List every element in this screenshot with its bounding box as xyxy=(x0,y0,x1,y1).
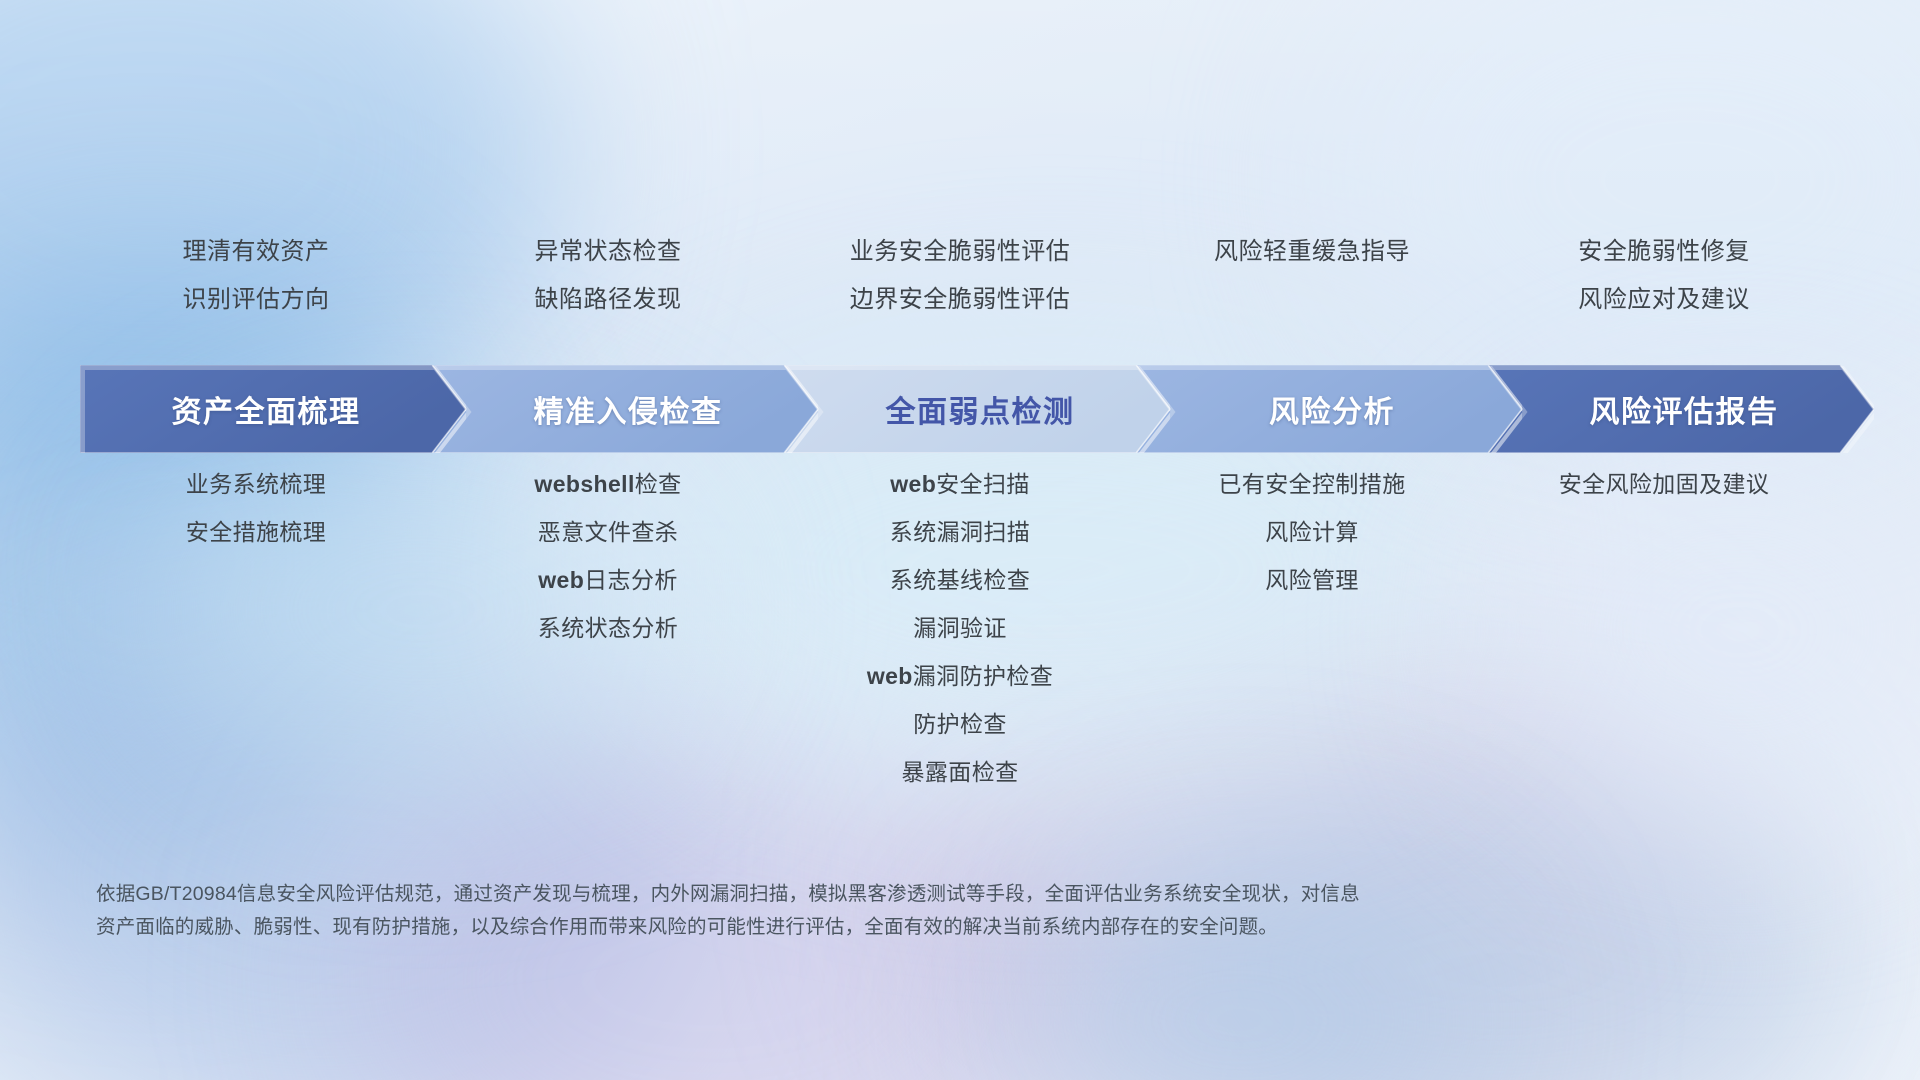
bottom-caption: webshell检查 xyxy=(534,460,681,508)
bottom-caption: 暴露面检查 xyxy=(902,748,1019,796)
process-arrow-band: 资产全面梳理精准入侵检查全面弱点检测风险分析风险评估报告 xyxy=(80,365,1840,453)
top-caption-group-intrusion-check: 异常状态检查缺陷路径发现 xyxy=(432,228,784,338)
bottom-caption: 风险计算 xyxy=(1265,508,1359,556)
top-caption: 理清有效资产 xyxy=(183,228,330,276)
stage-label-risk-report: 风险评估报告 xyxy=(1590,387,1779,431)
top-caption: 识别评估方向 xyxy=(183,276,330,324)
top-caption: 业务安全脆弱性评估 xyxy=(850,228,1071,276)
footer-line-2: 资产面临的威胁、脆弱性、现有防护措施，以及综合作用而带来风险的可能性进行评估，全… xyxy=(96,911,1706,944)
top-caption: 安全脆弱性修复 xyxy=(1578,228,1750,276)
process-stage-risk-report[interactable]: 风险评估报告 xyxy=(1488,365,1874,453)
top-caption-group-risk-report: 安全脆弱性修复风险应对及建议 xyxy=(1488,228,1840,338)
bottom-caption-group-intrusion-check: webshell检查恶意文件查杀web日志分析系统状态分析 xyxy=(432,460,784,652)
process-stage-asset-inventory[interactable]: 资产全面梳理 xyxy=(80,365,466,453)
bottom-caption-group-weakness-detection: web安全扫描系统漏洞扫描系统基线检查漏洞验证web漏洞防护检查防护检查暴露面检… xyxy=(784,460,1136,796)
stage-label-asset-inventory: 资产全面梳理 xyxy=(172,387,361,431)
bottom-caption: 风险管理 xyxy=(1265,556,1359,604)
bottom-caption: 业务系统梳理 xyxy=(186,460,326,508)
slide-canvas: 理清有效资产识别评估方向异常状态检查缺陷路径发现业务安全脆弱性评估边界安全脆弱性… xyxy=(0,0,1920,1080)
bottom-caption-group-asset-inventory: 业务系统梳理安全措施梳理 xyxy=(80,460,432,556)
bottom-caption: web漏洞防护检查 xyxy=(867,652,1053,700)
process-stage-intrusion-check[interactable]: 精准入侵检查 xyxy=(432,365,818,453)
bottom-caption: 防护检查 xyxy=(913,700,1007,748)
bottom-caption: 安全措施梳理 xyxy=(186,508,326,556)
bottom-caption: web日志分析 xyxy=(538,556,678,604)
top-caption-group-weakness-detection: 业务安全脆弱性评估边界安全脆弱性评估 xyxy=(784,228,1136,338)
stage-label-weakness-detection: 全面弱点检测 xyxy=(886,387,1075,431)
process-stage-risk-analysis[interactable]: 风险分析 xyxy=(1136,365,1522,453)
bottom-caption-group-risk-report: 安全风险加固及建议 xyxy=(1488,460,1840,508)
stage-label-risk-analysis: 风险分析 xyxy=(1269,387,1395,431)
bottom-caption: 恶意文件查杀 xyxy=(538,508,678,556)
bottom-caption: 系统基线检查 xyxy=(890,556,1030,604)
bottom-caption: 系统状态分析 xyxy=(538,604,678,652)
footer-line-1: 依据GB/T20984信息安全风险评估规范，通过资产发现与梳理，内外网漏洞扫描，… xyxy=(96,878,1706,911)
bottom-caption: web安全扫描 xyxy=(890,460,1030,508)
bottom-caption: 漏洞验证 xyxy=(913,604,1007,652)
top-caption: 风险应对及建议 xyxy=(1578,276,1750,324)
process-stage-weakness-detection[interactable]: 全面弱点检测 xyxy=(784,365,1170,453)
top-caption: 边界安全脆弱性评估 xyxy=(850,276,1071,324)
top-captions-row: 理清有效资产识别评估方向异常状态检查缺陷路径发现业务安全脆弱性评估边界安全脆弱性… xyxy=(80,228,1840,338)
footer-description: 依据GB/T20984信息安全风险评估规范，通过资产发现与梳理，内外网漏洞扫描，… xyxy=(96,878,1706,944)
bottom-caption: 安全风险加固及建议 xyxy=(1559,460,1770,508)
bottom-captions-row: 业务系统梳理安全措施梳理webshell检查恶意文件查杀web日志分析系统状态分… xyxy=(80,460,1840,796)
top-caption: 风险轻重缓急指导 xyxy=(1214,228,1410,276)
top-caption: 异常状态检查 xyxy=(535,228,682,276)
bottom-caption: 系统漏洞扫描 xyxy=(890,508,1030,556)
top-caption-group-asset-inventory: 理清有效资产识别评估方向 xyxy=(80,228,432,338)
top-caption-group-risk-analysis: 风险轻重缓急指导 xyxy=(1136,228,1488,338)
bottom-caption: 已有安全控制措施 xyxy=(1218,460,1405,508)
bottom-caption-group-risk-analysis: 已有安全控制措施风险计算风险管理 xyxy=(1136,460,1488,604)
top-caption: 缺陷路径发现 xyxy=(535,276,682,324)
stage-label-intrusion-check: 精准入侵检查 xyxy=(534,387,723,431)
